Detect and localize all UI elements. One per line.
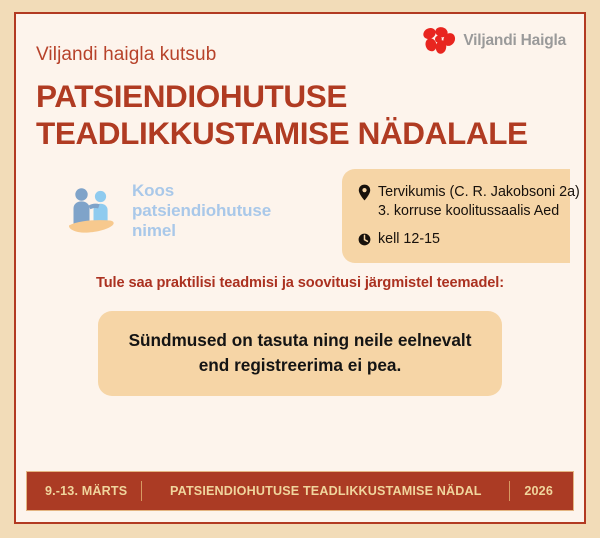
poster-root: Viljandi Haigla Viljandi haigla kutsub P… xyxy=(0,0,600,538)
two-people-in-hand-icon xyxy=(66,185,124,237)
notice-line-2: end registreerima ei pea. xyxy=(118,353,482,377)
footer-bar: 9.-13. MÄRTS PATSIENDIOHUTUSE TEADLIKKUS… xyxy=(26,471,574,511)
campaign-logo-text: Koos patsiendiohutuse nimel xyxy=(132,181,271,241)
headline-line-1: PATSIENDIOHUTUSE xyxy=(36,78,564,115)
info-time-text: kell 12-15 xyxy=(378,230,440,249)
poster-card: Viljandi Haigla Viljandi haigla kutsub P… xyxy=(14,12,586,524)
campaign-logo: Koos patsiendiohutuse nimel xyxy=(36,169,271,241)
flower-petals-icon xyxy=(422,26,456,56)
headline-line-2: TEADLIKKUSTAMISE NÄDALALE xyxy=(36,115,564,152)
brand-name: Viljandi Haigla xyxy=(463,32,566,50)
map-pin-icon xyxy=(358,184,371,201)
footer-title: PATSIENDIOHUTUSE TEADLIKKUSTAMISE NÄDAL xyxy=(156,484,495,498)
info-location-text: Tervikumis (C. R. Jakobsoni 2a) 3. korru… xyxy=(378,183,580,220)
topics-lead-text: Tule saa praktilisi teadmisi ja soovitus… xyxy=(36,275,564,291)
notice-box: Sündmused on tasuta ning neile eelnevalt… xyxy=(98,311,502,396)
footer-year: 2026 xyxy=(524,484,573,498)
notice-line-1: Sündmused on tasuta ning neile eelnevalt xyxy=(118,328,482,352)
clock-icon xyxy=(358,231,371,248)
event-info-box: Tervikumis (C. R. Jakobsoni 2a) 3. korru… xyxy=(342,169,570,263)
info-location-line-2: 3. korruse koolitussaalis Aed xyxy=(378,202,580,221)
footer-divider-left xyxy=(141,481,142,501)
campaign-text-line-2: patsiendiohutuse xyxy=(132,201,271,221)
info-location: Tervikumis (C. R. Jakobsoni 2a) 3. korru… xyxy=(358,183,554,220)
viljandi-haigla-logo: Viljandi Haigla xyxy=(422,26,566,56)
poster-header: Viljandi Haigla Viljandi haigla kutsub P… xyxy=(16,14,584,396)
footer-date: 9.-13. MÄRTS xyxy=(27,484,127,498)
page-title: PATSIENDIOHUTUSE TEADLIKKUSTAMISE NÄDALA… xyxy=(36,78,564,151)
campaign-text-line-1: Koos xyxy=(132,181,271,201)
info-time: kell 12-15 xyxy=(358,230,554,249)
info-location-line-1: Tervikumis (C. R. Jakobsoni 2a) xyxy=(378,183,580,202)
info-time-value: kell 12-15 xyxy=(378,230,440,249)
mid-row: Koos patsiendiohutuse nimel Tervikumis (… xyxy=(36,169,564,241)
footer-wrapper: 9.-13. MÄRTS PATSIENDIOHUTUSE TEADLIKKUS… xyxy=(16,471,584,522)
footer-divider-right xyxy=(509,481,510,501)
campaign-text-line-3: nimel xyxy=(132,221,271,241)
